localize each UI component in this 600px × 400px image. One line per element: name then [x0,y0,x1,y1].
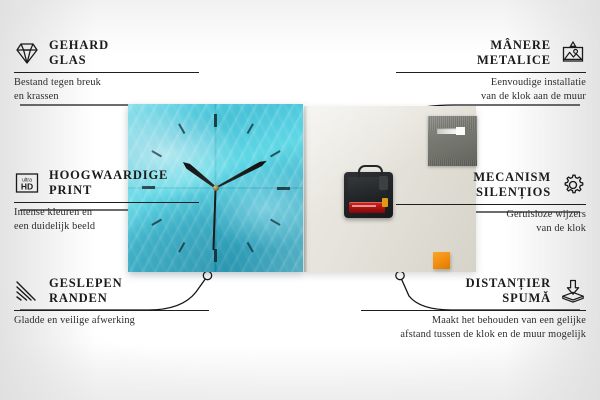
feature-divider [14,72,199,73]
feature-description: Maakt het behouden van een gelijkeafstan… [361,314,586,341]
feature-title: MECANISMSILENȚIOS [473,170,551,200]
feature-description: Eenvoudige installatievan de klok aan de… [396,76,586,103]
feature-description: Geruisloze wijzersvan de klok [396,208,586,235]
feature-divider [361,310,586,311]
feature-header: DISTANȚIERSPUMĂ [361,276,586,306]
spacer-arrow-icon [560,278,586,304]
svg-text:HD: HD [21,182,33,192]
metal-hanger-plate [428,116,477,166]
feature-header: GEHARDGLAS [14,38,199,68]
feature-description: Intense kleuren eneen duidelijk beeld [14,206,199,233]
hanging-picture-icon [560,40,586,66]
feature-mecanism-silentios: MECANISMSILENȚIOS Geruisloze wijzersvan … [396,170,586,235]
feature-gehard-glas: GEHARDGLAS Bestand tegen breuken krassen [14,38,199,103]
feature-divider [14,202,199,203]
feature-divider [14,310,209,311]
diamond-icon [14,40,40,66]
feature-description: Bestand tegen breuken krassen [14,76,199,103]
feature-title: GEHARDGLAS [49,38,109,68]
feature-header: MÂNEREMETALICE [396,38,586,68]
battery [349,202,385,213]
feature-distantier-spuma: DISTANȚIERSPUMĂ Maakt het behouden van e… [361,276,586,341]
feature-hoogwaardige-print: ultra HD HOOGWAARDIGEPRINT Intense kleur… [14,168,199,233]
feature-header: ultra HD HOOGWAARDIGEPRINT [14,168,199,198]
hanger-keyhole-slot [437,128,464,134]
beveled-edges-icon [14,278,40,304]
feature-divider [396,72,586,73]
ultra-hd-icon: ultra HD [14,170,40,196]
silent-movement-box [344,172,393,218]
feature-header: MECANISMSILENȚIOS [396,170,586,200]
battery-label-line [352,205,376,207]
feature-header: GESLEPENRANDEN [14,276,209,306]
infographic-canvas: GEHARDGLAS Bestand tegen breuken krassen… [0,0,600,400]
feature-title: HOOGWAARDIGEPRINT [49,168,168,198]
feature-geslepen-randen: GESLEPENRANDEN Gladde en veilige afwerki… [14,276,209,328]
foam-spacer [433,252,450,269]
movement-setting-slot [379,176,388,190]
feature-title: DISTANȚIERSPUMĂ [466,276,551,306]
feature-title: GESLEPENRANDEN [49,276,123,306]
gear-icon [560,172,586,198]
feature-manere-metalice: MÂNEREMETALICE Eenvoudige installatievan… [396,38,586,103]
feature-divider [396,204,586,205]
battery-terminal [382,198,388,207]
feature-title: MÂNEREMETALICE [477,38,551,68]
feature-description: Gladde en veilige afwerking [14,314,209,328]
